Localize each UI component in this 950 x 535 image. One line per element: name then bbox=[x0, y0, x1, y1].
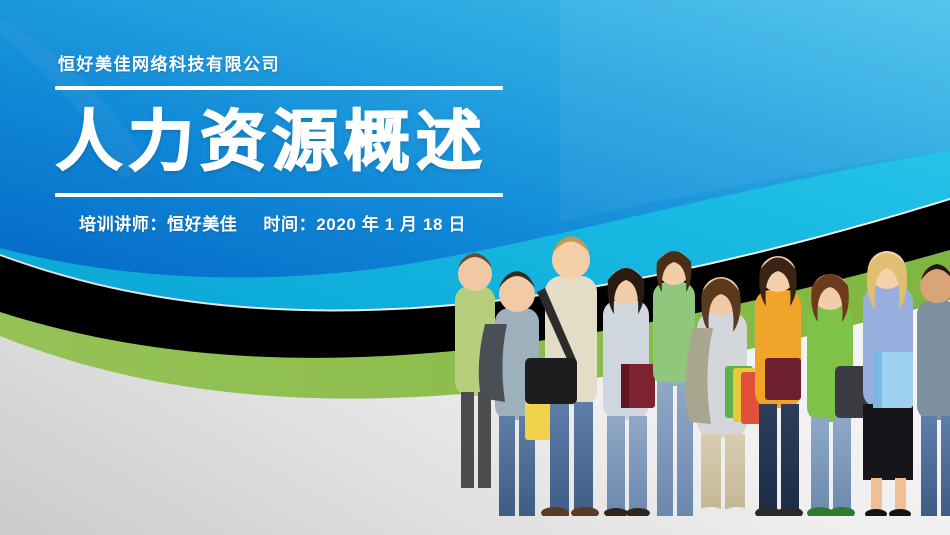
presenter-and-date-line: 培训讲师：恒好美佳时间：2020 年 1 月 18 日 bbox=[79, 210, 466, 235]
company-name: 恒好美佳网络科技有限公司 bbox=[58, 50, 280, 75]
title-rule-top bbox=[55, 86, 503, 90]
page-title: 人力资源概述 bbox=[56, 99, 488, 183]
date-label: 时间： bbox=[263, 215, 316, 234]
students-photo bbox=[425, 216, 950, 516]
date-value: 2020 年 1 月 18 日 bbox=[316, 215, 466, 234]
presentation-slide: 恒好美佳网络科技有限公司 人力资源概述 培训讲师：恒好美佳时间：2020 年 1… bbox=[0, 0, 950, 535]
title-rule-bottom bbox=[55, 193, 503, 197]
presenter-name: 恒好美佳 bbox=[167, 215, 237, 234]
presenter-label: 培训讲师： bbox=[79, 215, 167, 234]
